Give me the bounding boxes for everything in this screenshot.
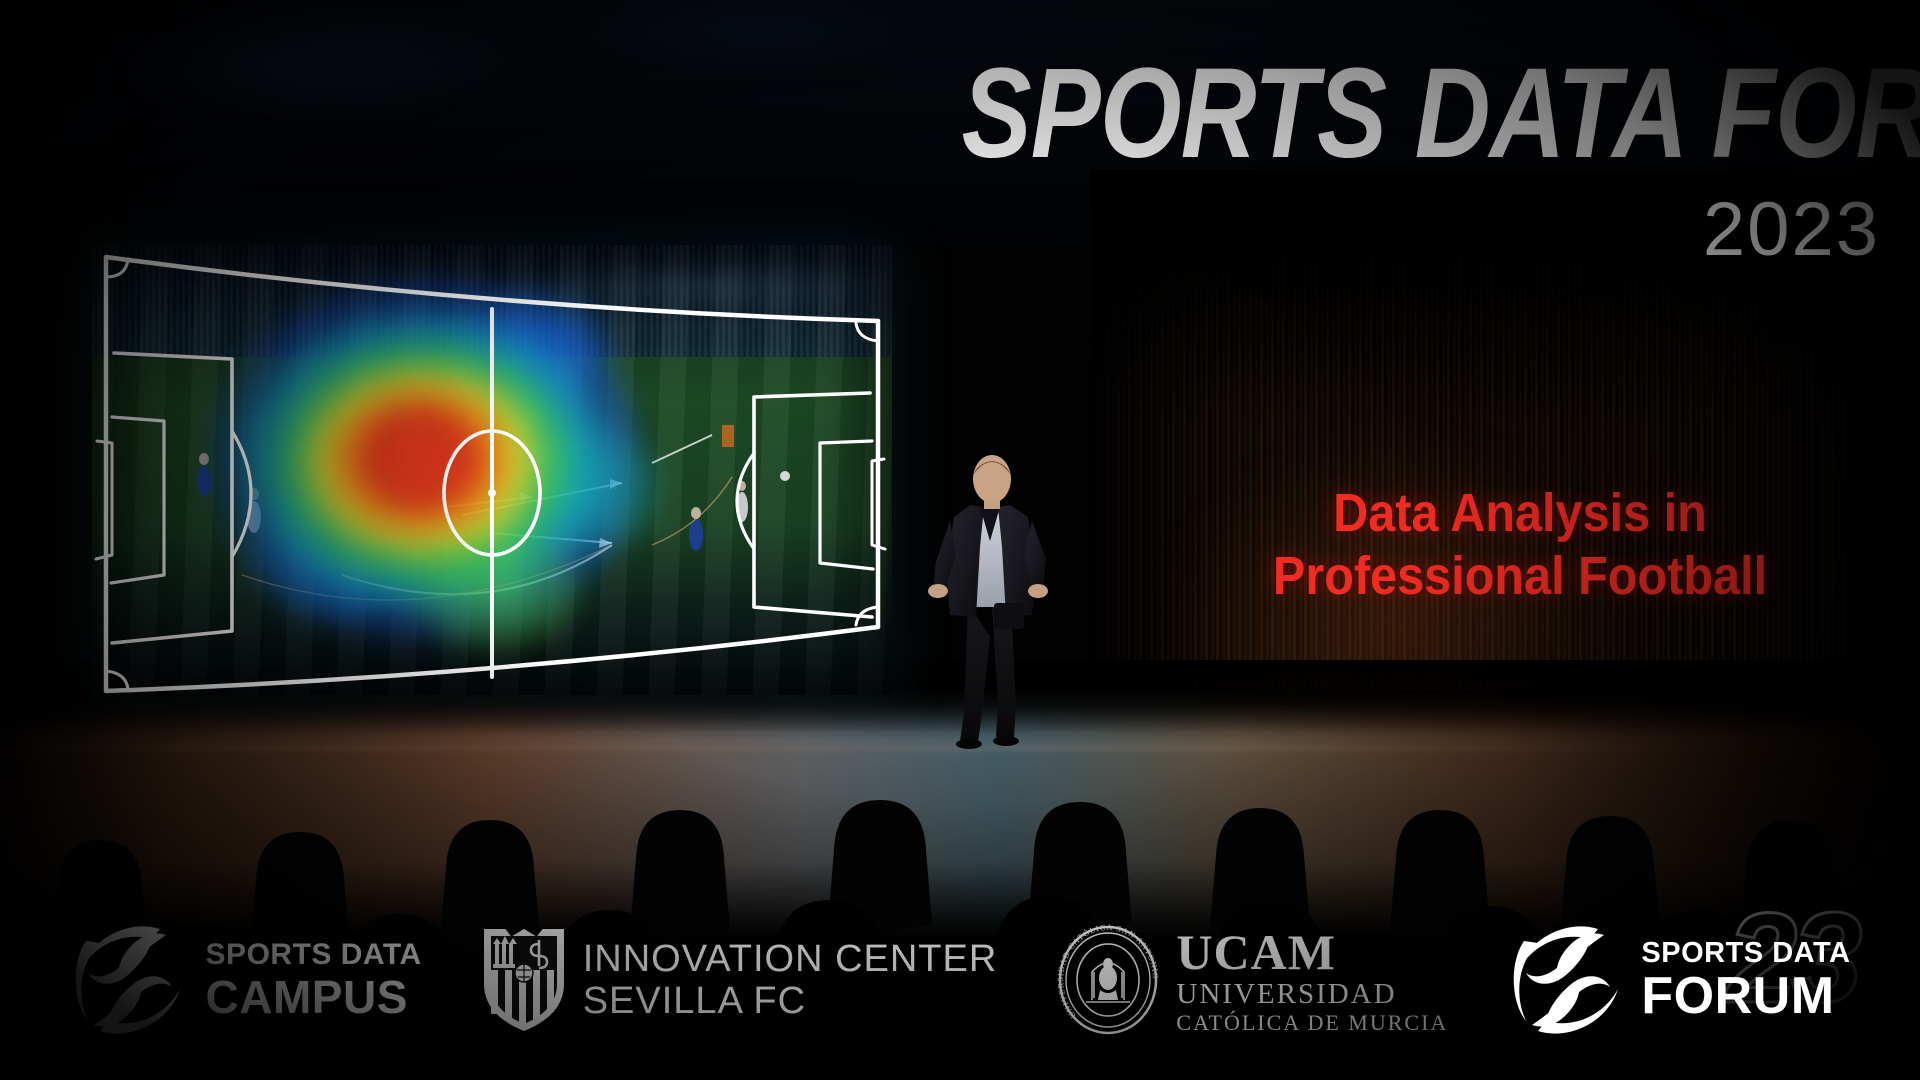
logo-sports-data-campus-text: SPORTS DATA CAMPUS — [206, 940, 422, 1020]
penalty-area-left — [112, 353, 232, 643]
subtitle-line-1: Data Analysis in — [1160, 482, 1880, 545]
logo-line-1: SPORTS DATA — [1641, 939, 1850, 968]
logo-line-2: UNIVERSIDAD — [1176, 980, 1448, 1009]
penalty-area-right — [754, 393, 872, 617]
subtitle-line-2: Professional Football — [1160, 545, 1880, 608]
goal-area-left — [111, 417, 164, 583]
sevilla-fc-crest-icon — [481, 926, 567, 1034]
page-title: SPORTS DATA FORUM — [962, 50, 1880, 178]
logo-line-3: CATÓLICA DE MURCIA — [1176, 1012, 1448, 1034]
penalty-arc-left — [232, 431, 251, 557]
ucam-seal-icon: UNIVERSIDAD CATÓLICA SAN ANTONIO — [1056, 924, 1160, 1036]
poster-canvas: SPORTS DATA FORUM 2023 Data Analysis in … — [0, 0, 1920, 1080]
corner-arc-tr — [856, 323, 878, 341]
logo-line-2: SEVILLA FC — [583, 982, 998, 1020]
logo-line-2: FORUM — [1641, 970, 1850, 1022]
logo-line-1: INNOVATION CENTER — [583, 940, 998, 978]
swoosh-globe-s-icon — [70, 921, 190, 1039]
event-subtitle: Data Analysis in Professional Football — [1160, 482, 1880, 607]
logo-line-1: UCAM — [1176, 927, 1448, 977]
logo-innovation-center-text: INNOVATION CENTER SEVILLA FC — [583, 940, 998, 1020]
event-year: 2023 — [1200, 192, 1880, 268]
logo-sports-data-forum-text: SPORTS DATA FORUM — [1641, 939, 1850, 1022]
logo-innovation-center-sevilla-fc[interactable]: INNOVATION CENTER SEVILLA FC — [481, 926, 998, 1034]
pitch-markings — [92, 245, 892, 695]
logo-line-1: SPORTS DATA — [206, 940, 422, 970]
projection-screen — [92, 245, 892, 695]
corner-arc-bl — [106, 671, 128, 689]
logo-sports-data-campus[interactable]: SPORTS DATA CAMPUS — [70, 921, 422, 1039]
logo-line-2: CAMPUS — [206, 974, 422, 1020]
logo-sports-data-forum[interactable]: 23 SPORTS DATA FORUM — [1507, 921, 1850, 1039]
logo-ucam-text: UCAM UNIVERSIDAD CATÓLICA DE MURCIA — [1176, 927, 1448, 1034]
logo-ucam[interactable]: UNIVERSIDAD CATÓLICA SAN ANTONIO UCAM UN… — [1056, 924, 1448, 1036]
penalty-arc-right — [737, 453, 754, 549]
goal-area-right — [820, 441, 873, 569]
swoosh-globe-s-icon — [1507, 921, 1629, 1039]
centre-spot — [488, 489, 496, 497]
logo-bar: SPORTS DATA CAMPUS — [0, 895, 1920, 1065]
